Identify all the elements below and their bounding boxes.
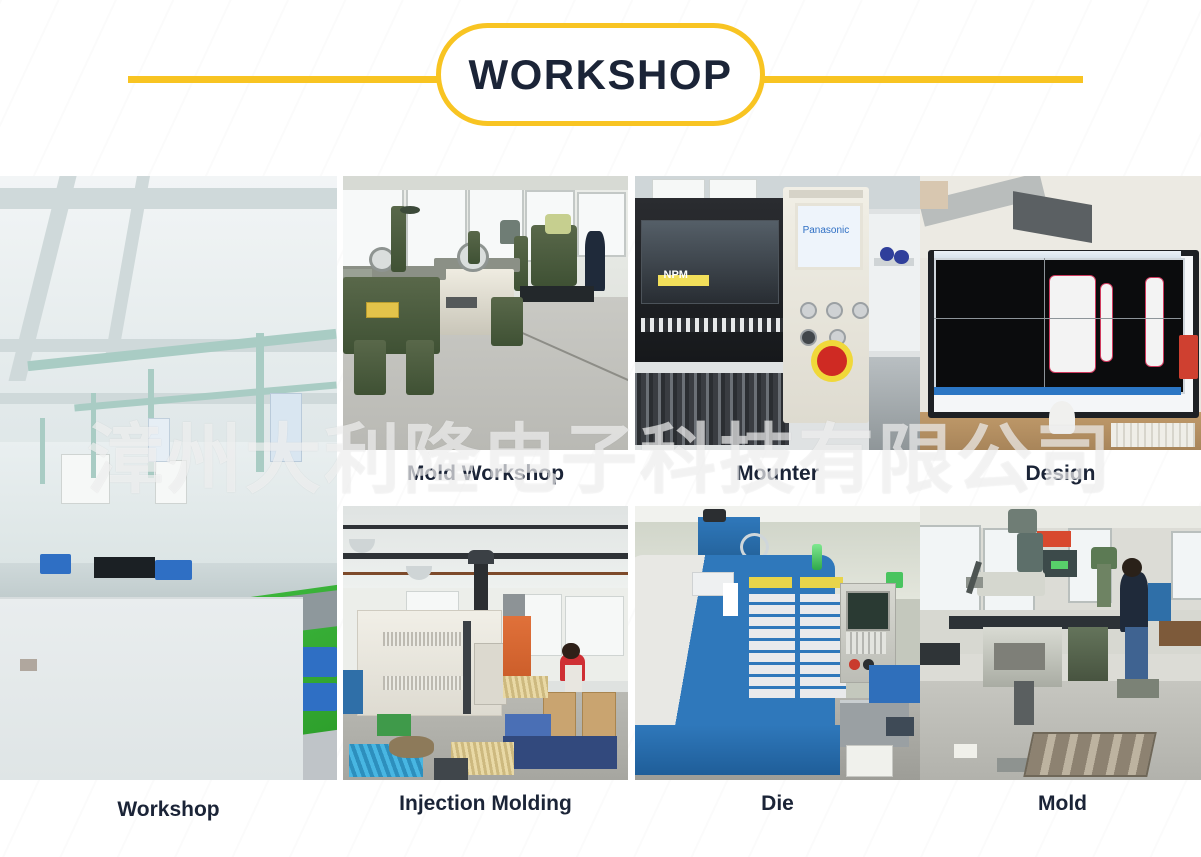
gallery-item-mounter[interactable]: NPM Panasonic Mounter <box>635 176 920 481</box>
caption-injection-molding: Injection Molding <box>343 792 628 816</box>
photo-die <box>635 506 920 780</box>
caption-mounter: Mounter <box>635 462 920 486</box>
header-title-pill: WORKSHOP <box>436 23 765 126</box>
gallery-item-workshop[interactable]: Workshop <box>0 176 337 857</box>
mounter-model-text: NPM <box>664 269 698 283</box>
caption-mold: Mold <box>920 792 1201 816</box>
page-title: WORKSHOP <box>469 51 733 99</box>
mounter-brand-text: Panasonic <box>802 225 850 239</box>
photo-grid: Workshop <box>0 176 1201 857</box>
header-rule-left <box>128 76 448 83</box>
caption-design: Design <box>920 462 1201 486</box>
photo-mounter: NPM Panasonic <box>635 176 920 450</box>
gallery-item-injection-molding[interactable]: Injection Molding <box>343 506 628 811</box>
section-header: WORKSHOP <box>0 0 1201 165</box>
photo-injection-molding <box>343 506 628 780</box>
gallery-item-mold[interactable]: Mold <box>920 506 1201 811</box>
gallery-item-die[interactable]: Die <box>635 506 920 811</box>
caption-mold-workshop: Mold Workshop <box>343 462 628 486</box>
photo-workshop <box>0 176 337 780</box>
gallery-item-mold-workshop[interactable]: Mold Workshop <box>343 176 628 481</box>
gallery-item-design[interactable]: Design <box>920 176 1201 481</box>
photo-mold <box>920 506 1201 780</box>
caption-workshop: Workshop <box>0 798 337 822</box>
photo-design <box>920 176 1201 450</box>
header-rule-right <box>753 76 1083 83</box>
caption-die: Die <box>635 792 920 816</box>
photo-mold-workshop <box>343 176 628 450</box>
